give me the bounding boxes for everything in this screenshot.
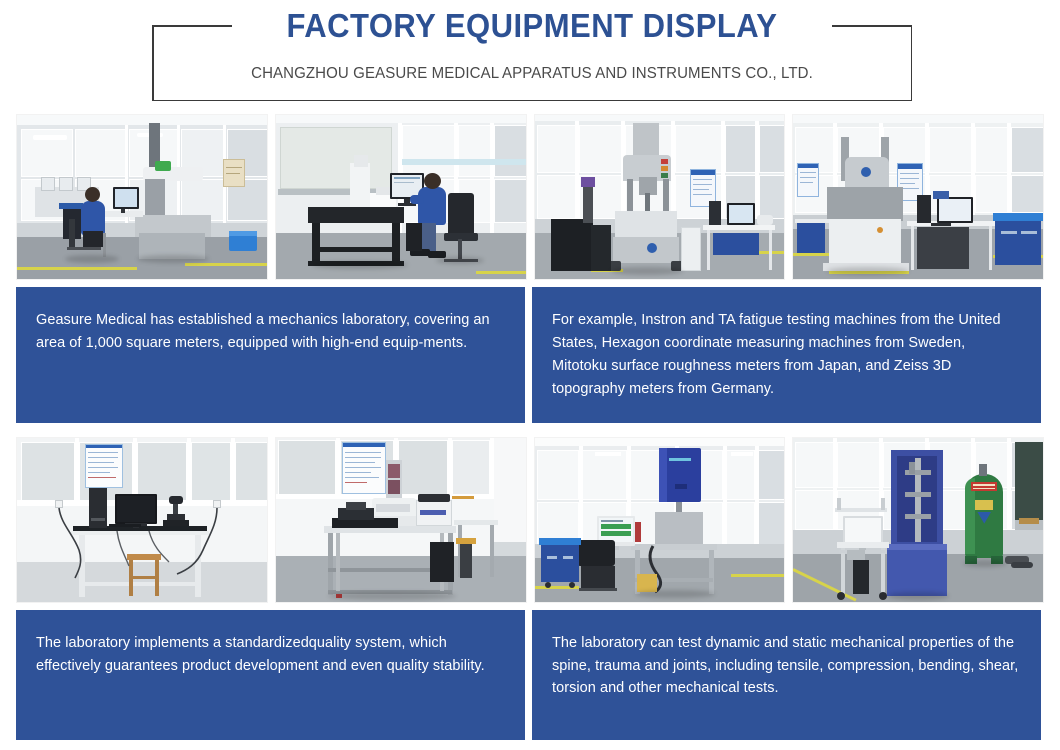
- photo-8-scene: [793, 438, 1043, 602]
- caption-2: For example, Instron and TA fatigue test…: [532, 287, 1041, 423]
- photo-7-scene: [535, 438, 785, 602]
- caption-1: Geasure Medical has established a mechan…: [16, 287, 525, 423]
- content-grid: Geasure Medical has established a mechan…: [16, 114, 1044, 740]
- photo-1-cmm-workstation: [16, 114, 268, 280]
- photo-3-fatigue-testing-machine: [534, 114, 786, 280]
- photo-7-instron-testing-machine: [534, 437, 786, 603]
- photo-4-scene: [793, 115, 1043, 279]
- caption-3: The laboratory implements a standardized…: [16, 610, 525, 740]
- photo-6-roughness-meter-table: [275, 437, 527, 603]
- company-name: CHANGZHOU GEASURE MEDICAL APPARATUS AND …: [163, 65, 900, 83]
- photo-row-top: [16, 114, 1044, 280]
- frame-border-left: [152, 25, 154, 101]
- photo-5-scene: [17, 438, 267, 602]
- photo-2-scene: [276, 115, 526, 279]
- photo-row-bottom: [16, 437, 1044, 603]
- photo-4-twin-column-test-system: [792, 114, 1044, 280]
- photo-3-scene: [535, 115, 785, 279]
- photo-6-scene: [276, 438, 526, 602]
- photo-5-microscope-bench: [16, 437, 268, 603]
- caption-row-top: Geasure Medical has established a mechan…: [16, 287, 1044, 423]
- frame-border-bottom: [152, 100, 912, 102]
- header-frame: FACTORY EQUIPMENT DISPLAY CHANGZHOU GEAS…: [152, 25, 912, 101]
- photo-1-scene: [17, 115, 267, 279]
- photo-8-universal-testing-machine: [792, 437, 1044, 603]
- cables-overlay: [17, 438, 267, 602]
- page-title: FACTORY EQUIPMENT DISPLAY: [175, 7, 889, 45]
- frame-border-right: [911, 25, 913, 101]
- caption-row-bottom: The laboratory implements a standardized…: [16, 610, 1044, 740]
- factory-equipment-display-page: FACTORY EQUIPMENT DISPLAY CHANGZHOU GEAS…: [0, 0, 1060, 750]
- photo-2-zeiss-measuring-machine: [275, 114, 527, 280]
- caption-4: The laboratory can test dynamic and stat…: [532, 610, 1041, 740]
